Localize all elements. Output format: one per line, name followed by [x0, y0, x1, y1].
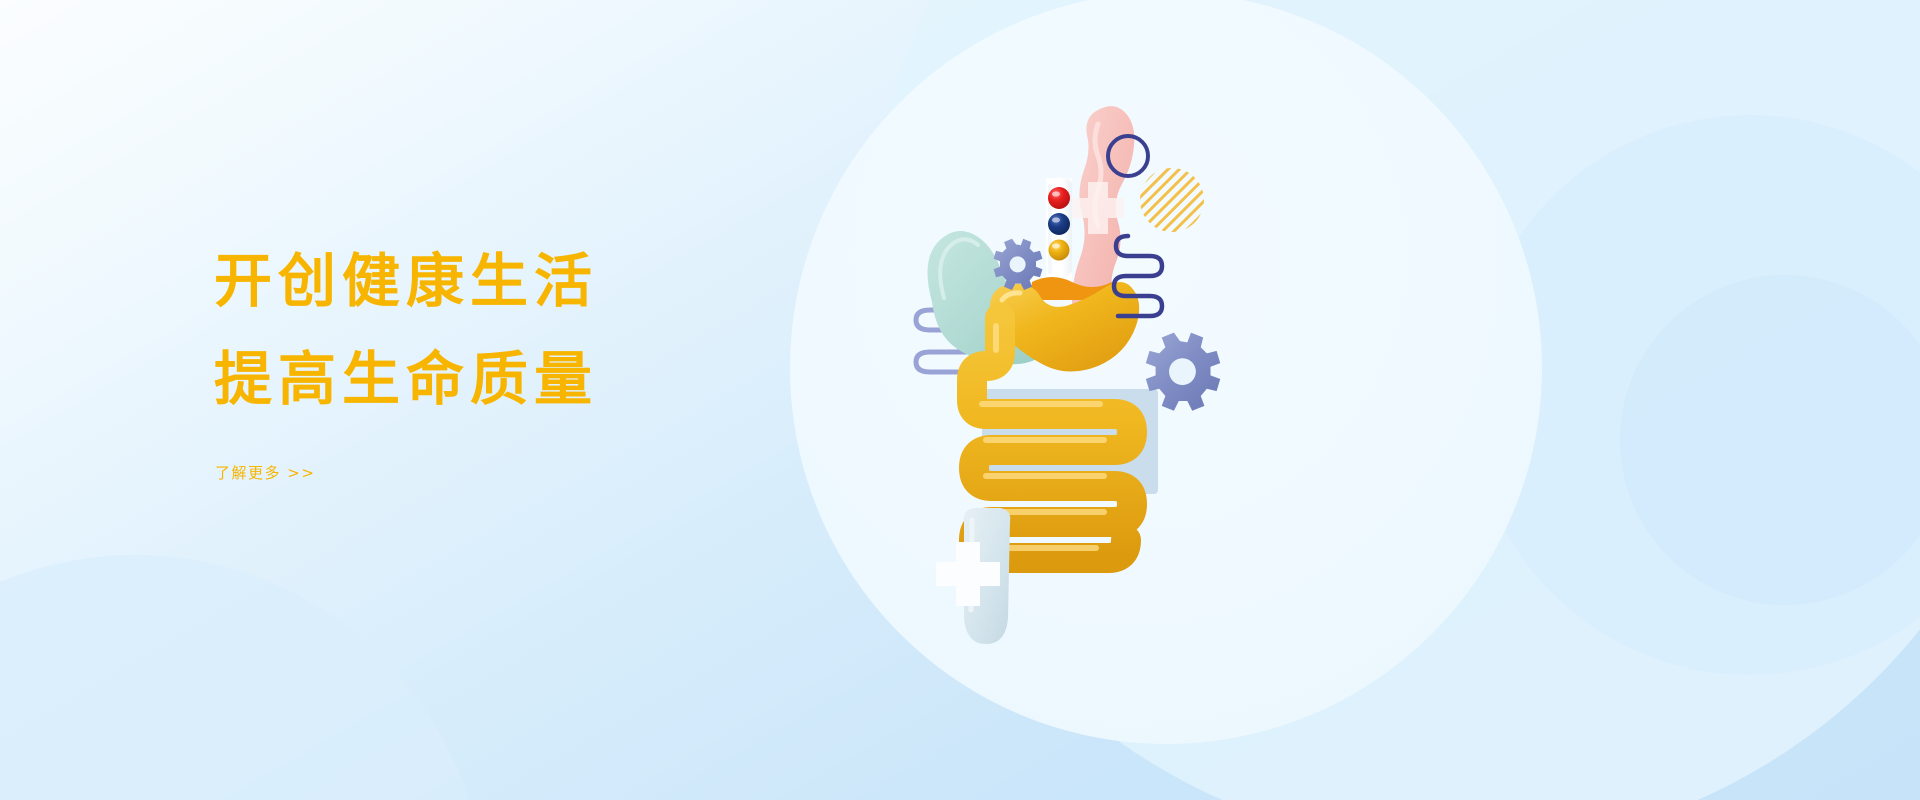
learn-more-link[interactable]: 了解更多 >>: [215, 462, 315, 483]
headline-line-2: 提高生命质量: [214, 350, 854, 408]
striped-circle-icon: [1138, 166, 1206, 234]
health-hero-banner: 开创健康生活 提高生命质量 了解更多 >>: [0, 0, 1920, 800]
pill-yellow-icon: [1049, 240, 1070, 261]
pill-navy-icon: [1048, 213, 1070, 235]
background-circle-right-inner: [1620, 275, 1920, 605]
pill-red-icon: [1048, 187, 1070, 209]
digestive-health-illustration: [860, 0, 1520, 800]
background-circle-bottom-left: [0, 555, 485, 800]
page-title: 开创健康生活 提高生命质量: [214, 252, 854, 408]
headline-line-1: 开创健康生活: [214, 252, 854, 310]
